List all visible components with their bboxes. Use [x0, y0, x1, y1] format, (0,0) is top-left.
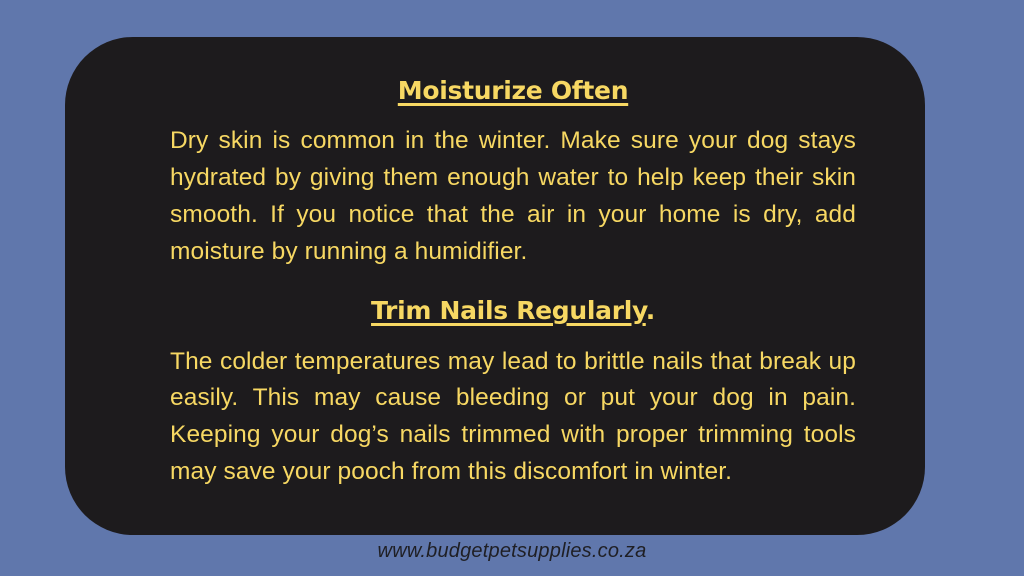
section-heading-underline: Moisturize Often: [398, 76, 628, 105]
section-heading-trim-nails-regularly: Trim Nails Regularly.: [170, 295, 856, 326]
slide-canvas: Moisturize Often Dry skin is common in t…: [0, 0, 1024, 576]
section-body-moisturize-often: Dry skin is common in the winter. Make s…: [170, 123, 856, 270]
section-heading-underline: Trim Nails Regularly: [371, 296, 646, 325]
section-heading-moisturize-often: Moisturize Often: [170, 75, 856, 106]
section-heading-trailing-punctuation: .: [646, 296, 655, 325]
card-content: Moisturize Often Dry skin is common in t…: [170, 55, 856, 491]
content-card: Moisturize Often Dry skin is common in t…: [65, 37, 925, 535]
footer-website-url: www.budgetpetsupplies.co.za: [0, 540, 1024, 563]
section-body-trim-nails-regularly: The colder temperatures may lead to brit…: [170, 344, 856, 491]
